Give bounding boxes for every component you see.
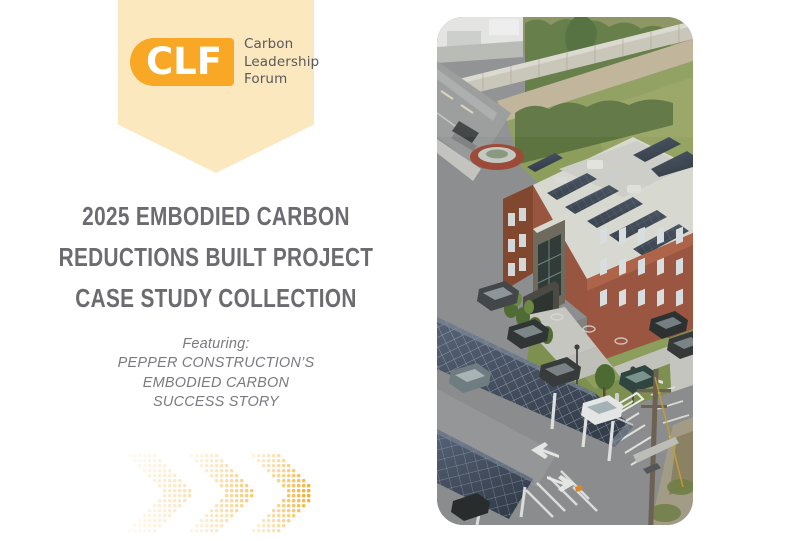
clf-wordmark: Carbon Leadership Forum [244,36,319,89]
clf-logo-mark: CLF [130,38,234,86]
page-title-line-3: CASE STUDY COLLECTION [43,278,389,319]
featuring-line-1: PEPPER CONSTRUCTION’S [0,354,432,373]
wordmark-line-3: Forum [244,71,319,89]
wordmark-line-2: Leadership [244,54,319,72]
page-title: 2025 EMBODIED CARBON REDUCTIONS BUILT PR… [43,196,389,319]
wordmark-line-1: Carbon [244,36,319,54]
clf-logo: CLF Carbon Leadership Forum [130,36,319,89]
featuring-line-2: EMBODIED CARBON [0,374,432,393]
clf-monogram: CLF [146,43,222,80]
cover-photo [437,17,693,525]
featuring-label: Featuring: [0,335,432,354]
featuring-line-3: SUCCESS STORY [0,393,432,412]
featuring-subtitle: Featuring: PEPPER CONSTRUCTION’S EMBODIE… [0,335,432,412]
chevron-decoration [126,452,312,534]
page-title-line-1: 2025 EMBODIED CARBON [43,196,389,237]
cover-photo-illustration [437,17,693,525]
page-title-line-2: REDUCTIONS BUILT PROJECT [43,237,389,278]
chevron-halftone-icon [126,452,312,534]
